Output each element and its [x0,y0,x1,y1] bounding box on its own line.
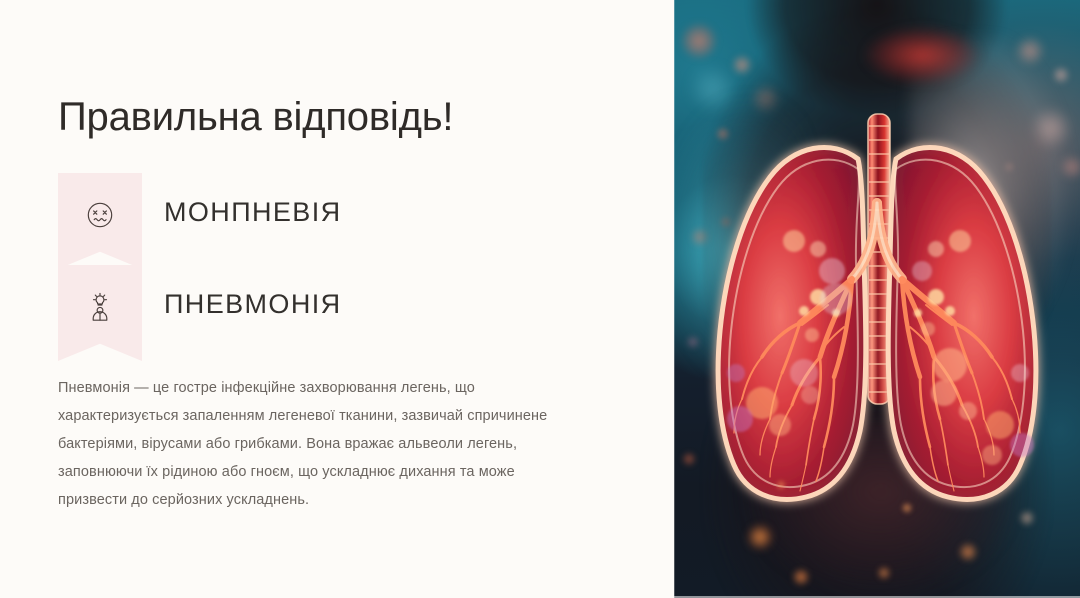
option-ribbon-banner [58,265,142,361]
description-paragraph: Пневмонія — це гостре інфекційне захворю… [58,374,568,514]
panel-edge [674,0,675,598]
lungs-illustration-panel [674,0,1080,598]
dizzy-face-icon [83,198,117,232]
bokeh-particle [877,566,891,580]
option-label: МОНПНЕВІЯ [164,173,342,226]
person-idea-icon [83,290,117,324]
answer-option-0[interactable]: МОНПНЕВІЯ [58,173,342,269]
bokeh-particle [776,480,786,490]
option-label: ПНЕВМОНІЯ [164,265,342,318]
answer-option-1[interactable]: ПНЕВМОНІЯ [58,265,342,361]
illustration-stage [674,0,1080,598]
lungs-graphic [682,73,1072,553]
content-panel: Правильна відповідь! МОНПНЕВІЯ [0,0,674,598]
bokeh-particle [792,568,810,586]
page-title: Правильна відповідь! [58,95,453,140]
option-ribbon-banner [58,173,142,269]
slide-correct-answer: Правильна відповідь! МОНПНЕВІЯ [0,0,1080,598]
